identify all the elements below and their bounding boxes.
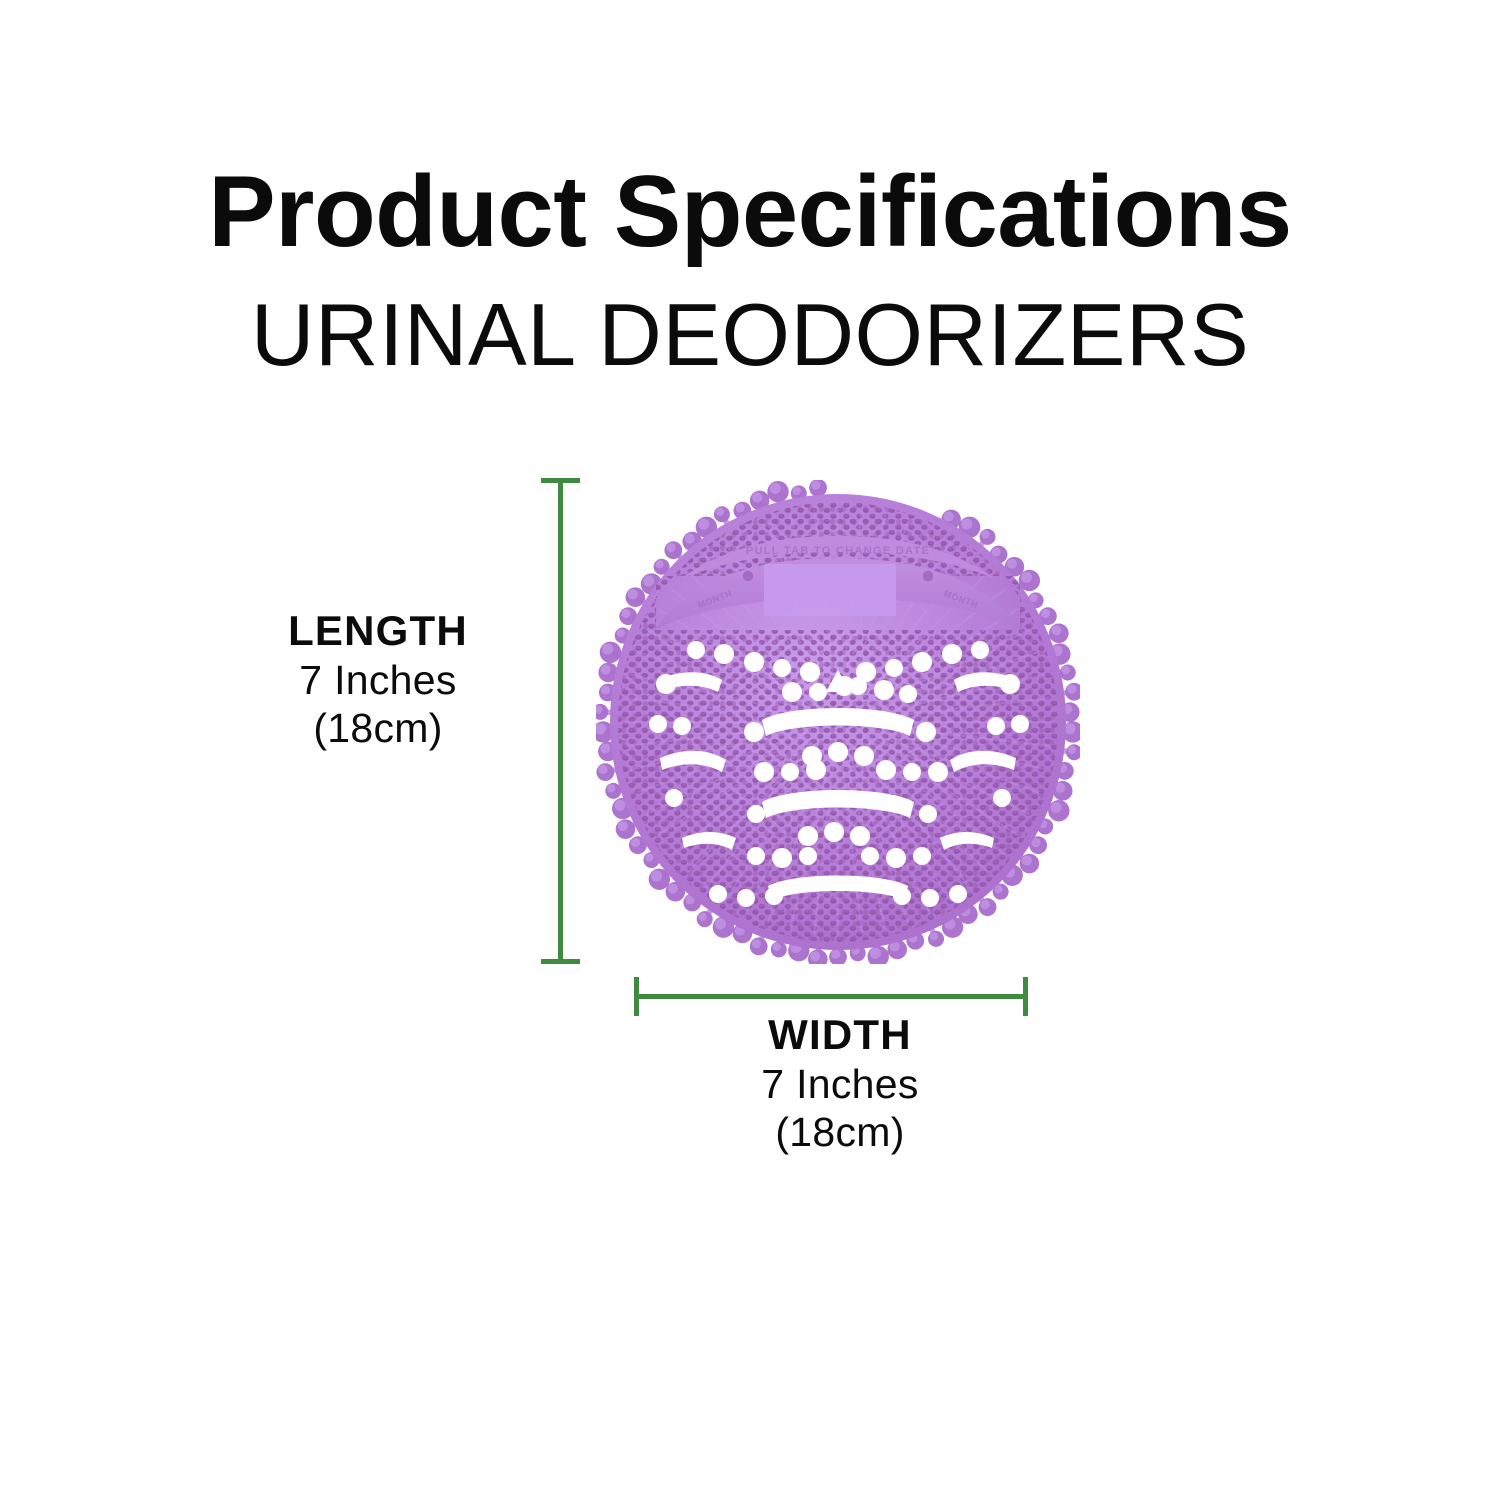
width-label-value: 7 Inches [670, 1060, 1010, 1108]
page-title: Product Specifications [0, 162, 1500, 263]
length-measure-cap-top [541, 478, 580, 483]
width-dimension-label: WIDTH 7 Inches (18cm) [670, 1010, 1010, 1156]
length-measure-cap-bottom [541, 959, 580, 964]
width-label-title: WIDTH [670, 1010, 1010, 1060]
width-measure-cap-right [1023, 977, 1028, 1016]
length-label-value: 7 Inches [208, 656, 548, 704]
width-label-metric: (18cm) [670, 1108, 1010, 1156]
length-label-metric: (18cm) [208, 704, 548, 752]
embossed-text-top: PULL TAB TO CHANGE DATE [746, 545, 930, 557]
page-title-block: Product Specifications URINAL DEODORIZER… [0, 162, 1500, 379]
page-subtitle: URINAL DEODORIZERS [0, 291, 1500, 379]
width-measure-cap-left [634, 977, 639, 1016]
product-photo-urinal-screen: PULL TAB TO CHANGE DATE MONTH MONTH [596, 480, 1080, 964]
date-label-patch [764, 564, 896, 616]
width-measure-line [634, 994, 1028, 999]
lip-pin-hole-right [923, 571, 933, 581]
urinal-screen-illustration: PULL TAB TO CHANGE DATE MONTH MONTH [596, 480, 1080, 964]
lip-pin-hole-left [743, 571, 753, 581]
length-dimension-label: LENGTH 7 Inches (18cm) [208, 606, 548, 752]
length-measure-line [558, 478, 563, 964]
length-label-title: LENGTH [208, 606, 548, 656]
